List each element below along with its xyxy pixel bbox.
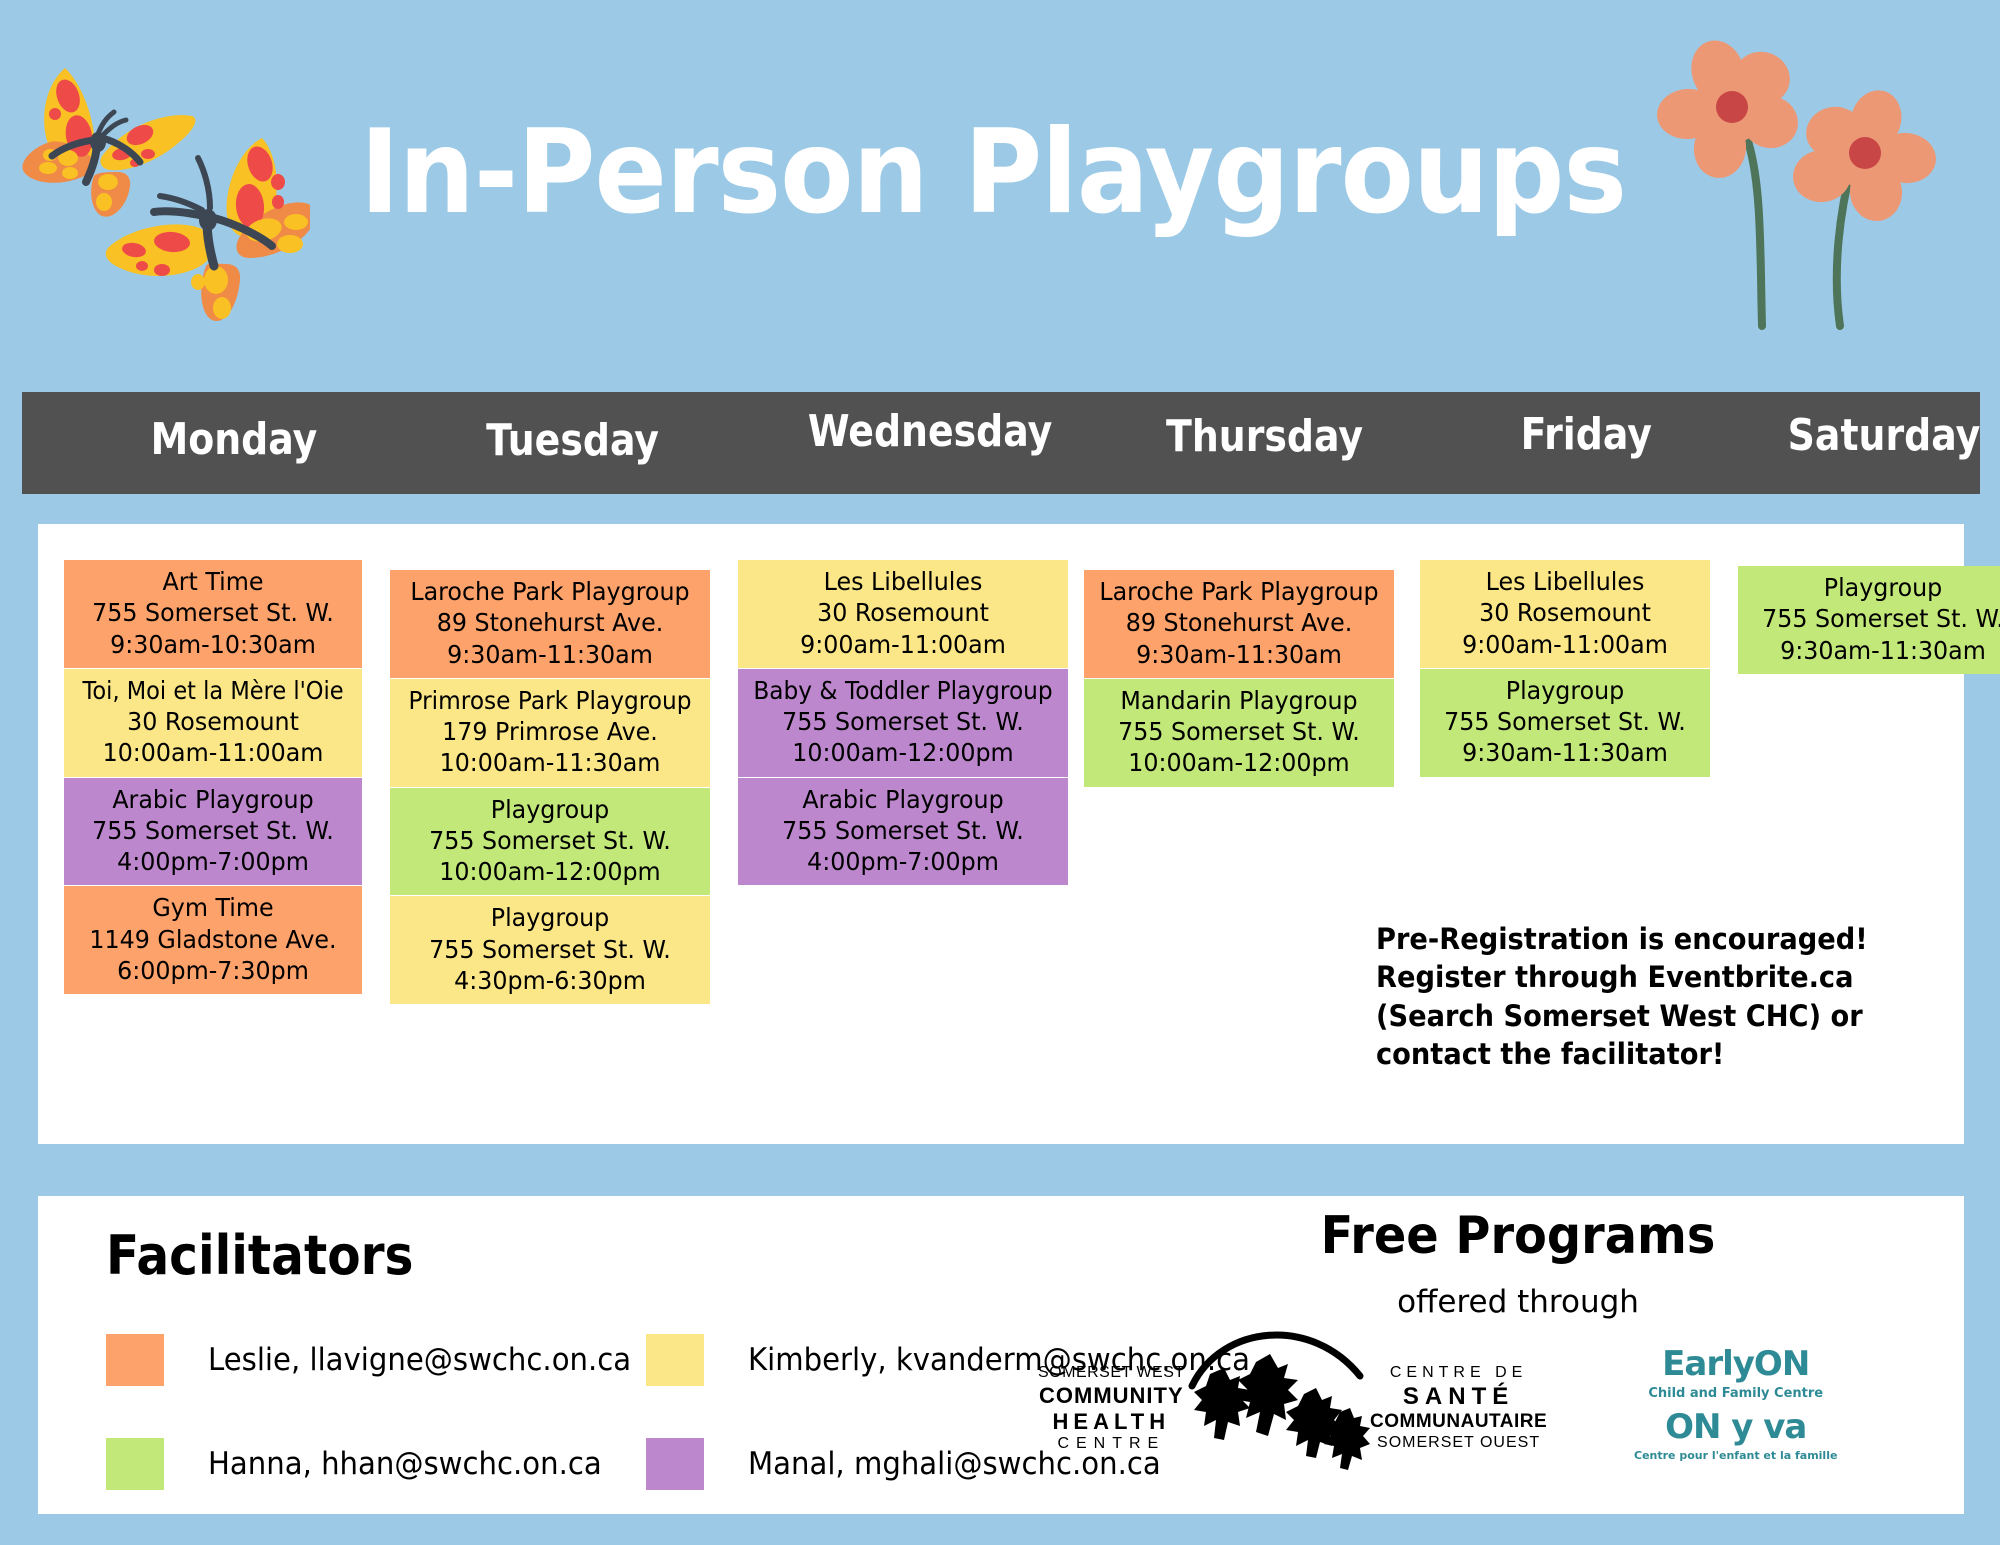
earlyon-logo: EarlyON Child and Family Centre ON y va …: [1634, 1344, 1837, 1462]
event-time: 9:30am-11:30am: [402, 639, 698, 670]
running-figures-logo-icon: [1182, 1316, 1372, 1476]
day-header-saturday: Saturday: [1788, 410, 1981, 461]
hero-header: In-Person Playgroups: [0, 0, 2000, 390]
color-swatch-green: [106, 1438, 164, 1490]
schedule-card[interactable]: Laroche Park Playgroup 89 Stonehurst Ave…: [1084, 570, 1394, 678]
schedule-card[interactable]: Arabic Playgroup 755 Somerset St. W. 4:0…: [738, 778, 1068, 886]
schedule-card[interactable]: Playgroup 755 Somerset St. W. 10:00am-12…: [390, 788, 710, 896]
swchc-logo: SOMERSET WEST COMMUNITY HEALTH CENTRE: [1038, 1364, 1185, 1454]
event-location: 755 Somerset St. W.: [750, 815, 1056, 846]
day-header-friday: Friday: [1521, 409, 1652, 460]
event-location: 755 Somerset St. W.: [402, 934, 698, 965]
schedule-card[interactable]: Art Time 755 Somerset St. W. 9:30am-10:3…: [64, 560, 362, 668]
day-header-monday: Monday: [151, 414, 318, 465]
facilitator-item-hanna: Hanna, hhan@swchc.on.ca: [106, 1438, 627, 1490]
prereg-line-1: Pre-Registration is encouraged!: [1376, 920, 1902, 958]
event-location: 755 Somerset St. W.: [75, 597, 351, 628]
sante-line-1: CENTRE DE: [1370, 1364, 1547, 1383]
schedule-card[interactable]: Mandarin Playgroup 755 Somerset St. W. 1…: [1084, 679, 1394, 787]
schedule-card[interactable]: Les Libellules 30 Rosemount 9:00am-11:00…: [738, 560, 1068, 668]
facilitators-title: Facilitators: [106, 1224, 413, 1287]
schedule-column-wednesday: Les Libellules 30 Rosemount 9:00am-11:00…: [738, 560, 1068, 886]
earlyon-line-2: Child and Family Centre: [1634, 1386, 1837, 1401]
event-location: 755 Somerset St. W.: [75, 815, 351, 846]
sante-line-2: SANTÉ: [1370, 1383, 1547, 1411]
page-title: In-Person Playgroups: [360, 105, 1626, 240]
schedule-column-saturday: Playgroup 755 Somerset St. W. 9:30am-11:…: [1738, 566, 2000, 675]
prereg-line-2: Register through Eventbrite.ca: [1376, 958, 1902, 996]
color-swatch-yellow: [646, 1334, 704, 1386]
prereg-line-4: contact the facilitator!: [1376, 1035, 1902, 1073]
schedule-card[interactable]: Arabic Playgroup 755 Somerset St. W. 4:0…: [64, 778, 362, 886]
event-name: Playgroup: [1749, 572, 2000, 603]
free-programs-title: Free Programs: [1224, 1206, 1813, 1266]
swchc-line-1: SOMERSET WEST: [1038, 1364, 1185, 1383]
swchc-line-3: HEALTH: [1038, 1409, 1185, 1435]
event-time: 6:00pm-7:30pm: [75, 955, 351, 986]
day-header-inner: Monday Tuesday Wednesday Thursday Friday…: [22, 392, 1980, 494]
event-location: 179 Primrose Ave.: [402, 716, 698, 747]
event-location: 755 Somerset St. W.: [1749, 603, 2000, 634]
event-name: Baby & Toddler Playgroup: [753, 675, 1052, 706]
schedule-card[interactable]: Playgroup 755 Somerset St. W. 9:30am-11:…: [1738, 566, 2000, 674]
schedule-card[interactable]: Les Libellules 30 Rosemount 9:00am-11:00…: [1420, 560, 1710, 668]
event-time: 10:00am-11:00am: [75, 737, 351, 768]
flowers-icon: [1650, 30, 2000, 330]
event-time: 9:00am-11:00am: [1431, 629, 1699, 660]
event-time: 9:00am-11:00am: [750, 629, 1056, 660]
event-location: 30 Rosemount: [750, 597, 1056, 628]
schedule-column-friday: Les Libellules 30 Rosemount 9:00am-11:00…: [1420, 560, 1710, 778]
event-time: 9:30am-11:30am: [1749, 635, 2000, 666]
event-name: Playgroup: [402, 902, 698, 933]
pre-registration-note: Pre-Registration is encouraged! Register…: [1376, 920, 1936, 1073]
schedule-card[interactable]: Playgroup 755 Somerset St. W. 9:30am-11:…: [1420, 669, 1710, 777]
event-time: 10:00am-12:00pm: [402, 856, 698, 887]
day-header-thursday: Thursday: [1166, 411, 1363, 462]
event-name: Les Libellules: [1431, 566, 1699, 597]
event-name: Art Time: [75, 566, 351, 597]
event-time: 4:00pm-7:00pm: [75, 846, 351, 877]
offered-through-label: offered through: [1198, 1284, 1838, 1320]
schedule-column-tuesday: Laroche Park Playgroup 89 Stonehurst Ave…: [390, 570, 710, 1005]
color-swatch-orange: [106, 1334, 164, 1386]
event-location: 755 Somerset St. W.: [1431, 706, 1699, 737]
event-time: 4:30pm-6:30pm: [402, 965, 698, 996]
schedule-card[interactable]: Laroche Park Playgroup 89 Stonehurst Ave…: [390, 570, 710, 678]
schedule-column-monday: Art Time 755 Somerset St. W. 9:30am-10:3…: [64, 560, 362, 995]
event-name: Les Libellules: [750, 566, 1056, 597]
event-time: 4:00pm-7:00pm: [750, 846, 1056, 877]
event-location: 755 Somerset St. W.: [402, 825, 698, 856]
schedule-card[interactable]: Primrose Park Playgroup 179 Primrose Ave…: [390, 679, 710, 787]
event-name: Arabic Playgroup: [750, 784, 1056, 815]
facilitator-item-leslie: Leslie, llavigne@swchc.on.ca: [106, 1334, 658, 1386]
earlyon-line-4: Centre pour l'enfant et la famille: [1634, 1449, 1837, 1462]
event-location: 1149 Gladstone Ave.: [75, 924, 351, 955]
footer-panel: Facilitators Leslie, llavigne@swchc.on.c…: [38, 1196, 1964, 1514]
event-location: 755 Somerset St. W.: [1096, 716, 1383, 747]
event-time: 9:30am-10:30am: [75, 629, 351, 660]
schedule-column-thursday: Laroche Park Playgroup 89 Stonehurst Ave…: [1084, 570, 1394, 788]
color-swatch-purple: [646, 1438, 704, 1490]
earlyon-line-3: ON y va: [1634, 1407, 1837, 1447]
event-name: Arabic Playgroup: [75, 784, 351, 815]
sante-communautaire-logo: CENTRE DE SANTÉ COMMUNAUTAIRE SOMERSET O…: [1370, 1364, 1547, 1452]
day-header-tuesday: Tuesday: [486, 415, 659, 466]
event-name: Mandarin Playgroup: [1096, 685, 1383, 716]
swchc-line-2: COMMUNITY: [1038, 1383, 1185, 1409]
event-location: 89 Stonehurst Ave.: [402, 607, 698, 638]
schedule-columns: Art Time 755 Somerset St. W. 9:30am-10:3…: [38, 524, 1964, 1144]
sante-line-3: COMMUNAUTAIRE: [1370, 1411, 1547, 1433]
event-location: 89 Stonehurst Ave.: [1096, 607, 1383, 638]
event-name: Playgroup: [402, 794, 698, 825]
event-location: 30 Rosemount: [75, 706, 351, 737]
partner-logos: SOMERSET WEST COMMUNITY HEALTH CENTRE CE…: [1038, 1334, 1918, 1484]
schedule-card[interactable]: Toi, Moi et la Mère l'Oie 30 Rosemount 1…: [64, 669, 362, 777]
event-time: 10:00am-12:00pm: [750, 737, 1056, 768]
swchc-line-4: CENTRE: [1038, 1435, 1185, 1454]
schedule-card[interactable]: Baby & Toddler Playgroup 755 Somerset St…: [738, 669, 1068, 777]
day-header-bar: Monday Tuesday Wednesday Thursday Friday…: [22, 392, 1980, 494]
event-time: 10:00am-12:00pm: [1096, 747, 1383, 778]
event-name: Primrose Park Playgroup: [405, 685, 695, 716]
event-location: 755 Somerset St. W.: [750, 706, 1056, 737]
event-name: Playgroup: [1431, 675, 1699, 706]
prereg-line-3: (Search Somerset West CHC) or: [1376, 997, 1902, 1035]
butterflies-icon: [10, 30, 310, 330]
schedule-card[interactable]: Playgroup 755 Somerset St. W. 4:30pm-6:3…: [390, 896, 710, 1004]
sante-line-4: SOMERSET OUEST: [1370, 1434, 1547, 1453]
event-location: 30 Rosemount: [1431, 597, 1699, 628]
facilitator-label[interactable]: Hanna, hhan@swchc.on.ca: [208, 1446, 602, 1482]
event-name: Laroche Park Playgroup: [402, 576, 698, 607]
event-name: Gym Time: [75, 892, 351, 923]
facilitator-label[interactable]: Leslie, llavigne@swchc.on.ca: [208, 1342, 631, 1378]
event-name: Laroche Park Playgroup: [1096, 576, 1383, 607]
event-name: Toi, Moi et la Mère l'Oie: [83, 675, 344, 706]
schedule-card[interactable]: Gym Time 1149 Gladstone Ave. 6:00pm-7:30…: [64, 886, 362, 994]
event-time: 9:30am-11:30am: [1096, 639, 1383, 670]
event-time: 10:00am-11:30am: [402, 747, 698, 778]
schedule-panel: Art Time 755 Somerset St. W. 9:30am-10:3…: [38, 524, 1964, 1144]
earlyon-line-1: EarlyON: [1634, 1344, 1837, 1384]
day-header-wednesday: Wednesday: [808, 406, 1052, 457]
event-time: 9:30am-11:30am: [1431, 737, 1699, 768]
